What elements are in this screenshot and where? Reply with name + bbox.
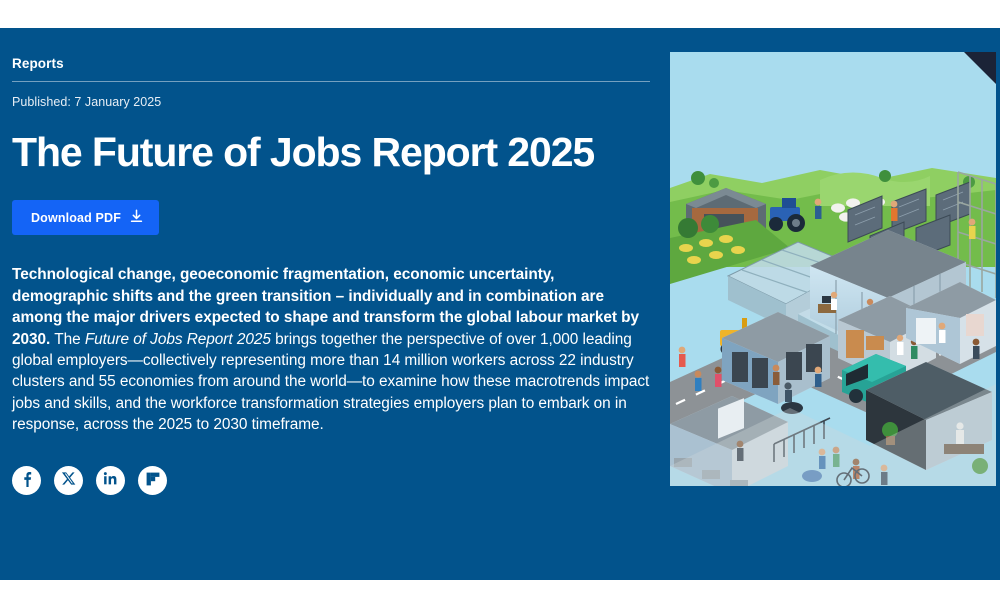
report-cover-illustration[interactable] (670, 52, 996, 486)
page-root: Reports Published: 7 January 2025 The Fu… (0, 0, 1000, 600)
van-mechanic (815, 367, 822, 387)
flipboard-icon (146, 472, 160, 489)
social-share-row (12, 466, 652, 495)
report-description: Technological change, geoeconomic fragme… (12, 264, 652, 435)
download-icon (130, 209, 143, 226)
facebook-icon (18, 470, 35, 490)
share-facebook-button[interactable] (12, 466, 41, 495)
illustration-artwork (670, 52, 996, 486)
content-column: Reports Published: 7 January 2025 The Fu… (12, 28, 652, 495)
linkedin-icon (103, 471, 118, 489)
x-twitter-icon (61, 471, 76, 489)
header-divider (12, 81, 650, 82)
share-flipboard-button[interactable] (138, 466, 167, 495)
breadcrumb-reports[interactable]: Reports (12, 56, 652, 71)
download-pdf-button[interactable]: Download PDF (12, 200, 159, 235)
download-pdf-label: Download PDF (31, 211, 121, 225)
published-date: Published: 7 January 2025 (12, 95, 652, 109)
share-x-button[interactable] (54, 466, 83, 495)
page-title: The Future of Jobs Report 2025 (12, 131, 652, 174)
page-fold-corner (964, 52, 996, 84)
description-rest-1: The (50, 331, 85, 348)
description-italic-title: Future of Jobs Report 2025 (85, 331, 271, 348)
share-linkedin-button[interactable] (96, 466, 125, 495)
farmer-figure (815, 199, 822, 219)
